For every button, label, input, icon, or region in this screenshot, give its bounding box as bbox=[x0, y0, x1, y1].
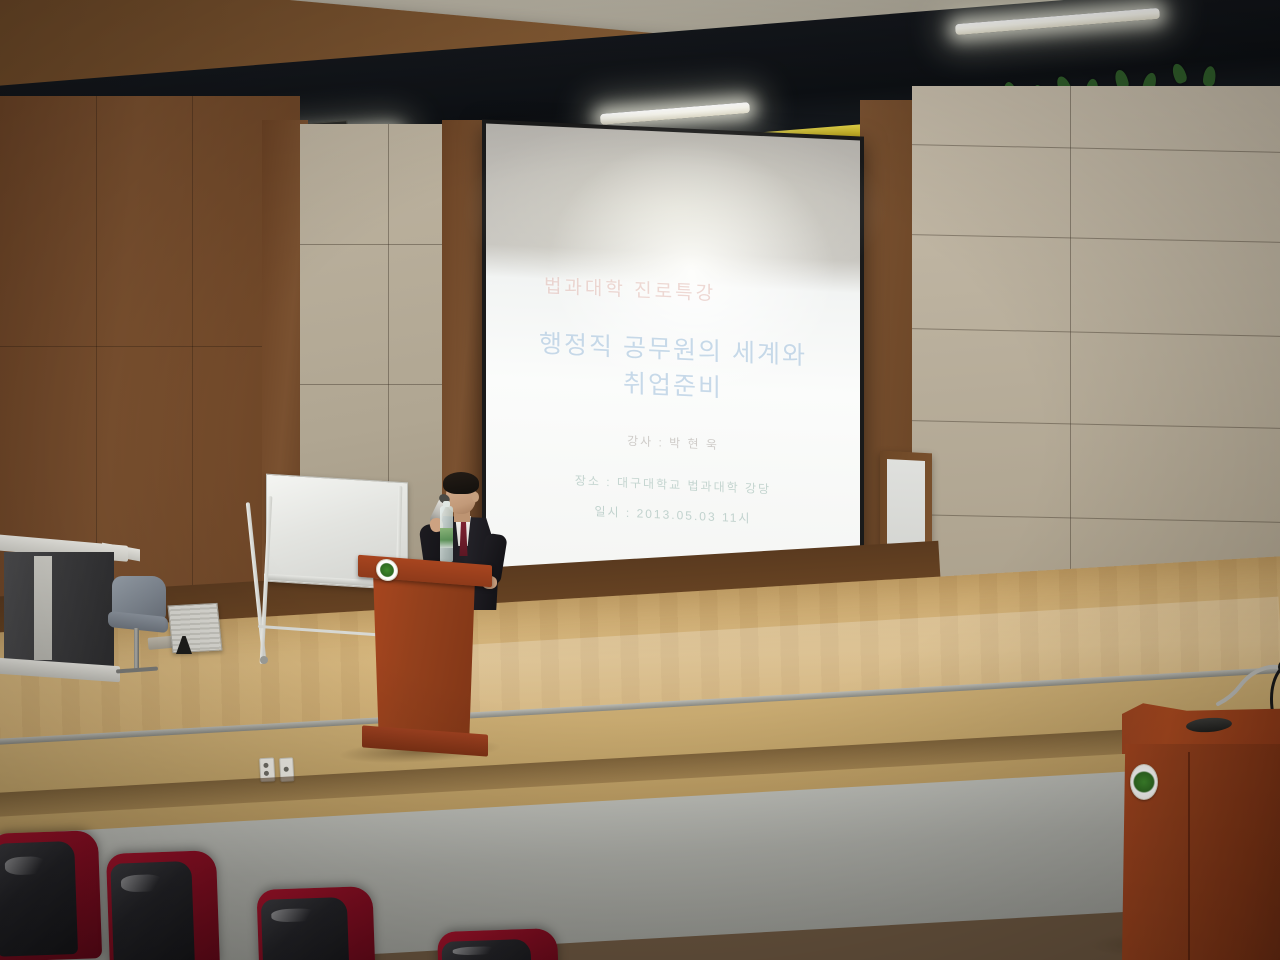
chair-base bbox=[116, 667, 158, 674]
seat-highlight bbox=[452, 946, 498, 956]
slide-venue-text: 장소 : 대구대학교 법과대학 강당 bbox=[575, 472, 771, 498]
projection-screen-surface: 법과대학 진로특강 행정직 공무원의 세계와 취업준비 강사 : 박 현 욱 장… bbox=[486, 124, 860, 605]
water-bottle-cap bbox=[443, 501, 450, 507]
wooden-lectern bbox=[366, 560, 484, 756]
slide-datetime-text: 일시 : 2013.05.03 11시 bbox=[595, 502, 752, 526]
auditorium-photo: 법과대학 진로특강 행정직 공무원의 세계와 취업준비 강사 : 박 현 욱 장… bbox=[0, 0, 1280, 960]
whiteboard-caster bbox=[260, 656, 268, 664]
seat-shell bbox=[441, 939, 532, 960]
university-crest-icon bbox=[376, 558, 398, 582]
av-console-body bbox=[4, 552, 114, 666]
projection-screen: 법과대학 진로특강 행정직 공무원의 세계와 취업준비 강사 : 박 현 욱 장… bbox=[482, 119, 864, 608]
seat-shell bbox=[110, 861, 195, 960]
auditorium-seat bbox=[437, 928, 559, 960]
auditorium-seat bbox=[256, 886, 375, 960]
lectern-body bbox=[370, 578, 478, 736]
seat-highlight bbox=[271, 908, 316, 922]
slide-title-line-1: 행정직 공무원의 세계와 bbox=[539, 325, 807, 373]
slide-eyebrow-text: 법과대학 진로특강 bbox=[544, 271, 716, 306]
presenter-hair bbox=[443, 472, 479, 494]
water-bottle-label bbox=[440, 528, 453, 548]
university-crest-icon-right bbox=[1130, 764, 1158, 800]
water-bottle bbox=[440, 506, 453, 562]
auditorium-seat bbox=[106, 850, 220, 960]
chair-post bbox=[134, 628, 139, 670]
seat-highlight bbox=[121, 874, 164, 892]
seat-highlight bbox=[4, 855, 46, 874]
seat-shell bbox=[261, 897, 350, 960]
presenter-ear bbox=[472, 492, 479, 502]
seat-shell bbox=[0, 841, 78, 956]
secondary-lectern bbox=[1122, 700, 1280, 960]
auditorium-seat bbox=[0, 830, 102, 960]
av-console-stripe bbox=[34, 556, 52, 660]
secondary-lectern-seam bbox=[1188, 752, 1190, 960]
gray-office-chair bbox=[108, 576, 170, 676]
slide-title-line-2: 취업준비 bbox=[623, 366, 723, 407]
slide-presenter-text: 강사 : 박 현 욱 bbox=[627, 432, 719, 453]
panel-heater bbox=[167, 603, 222, 653]
